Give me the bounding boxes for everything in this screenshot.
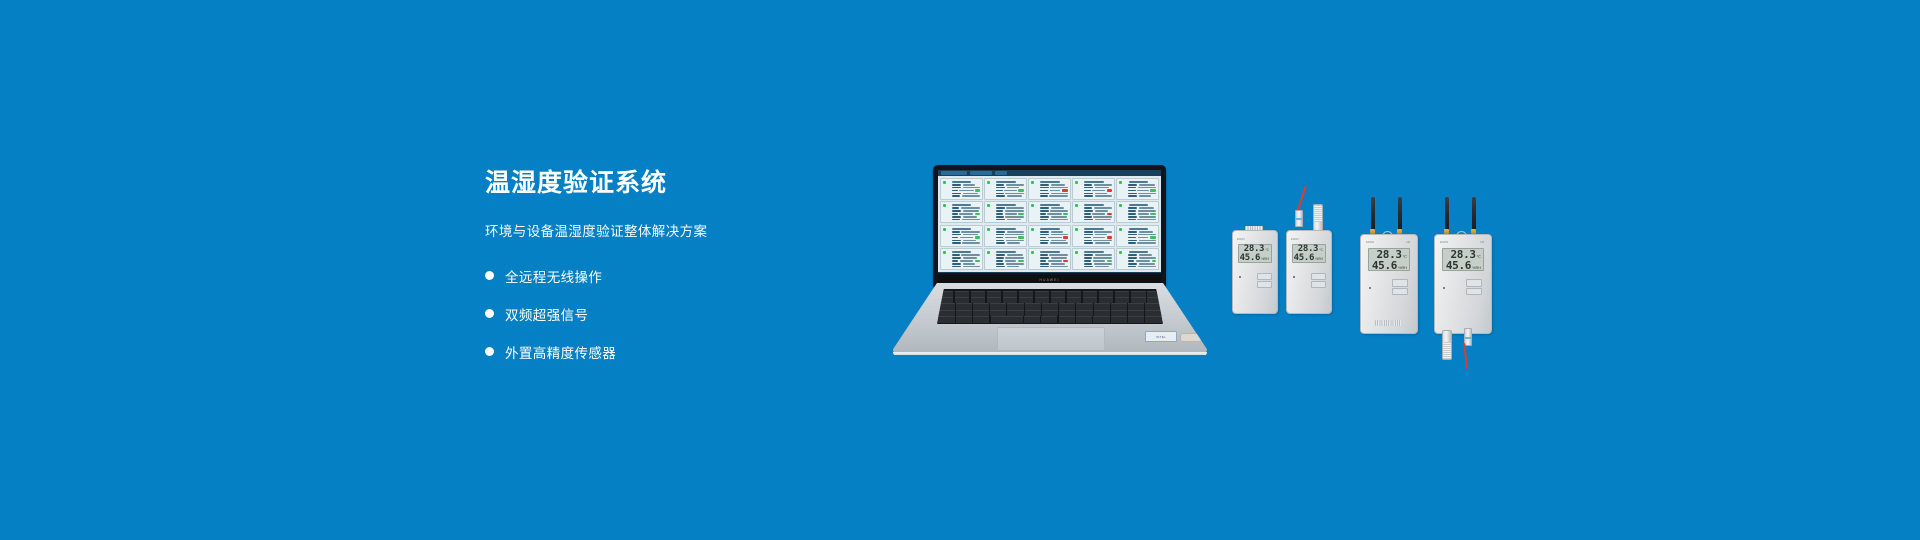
keyboard-key[interactable] bbox=[1076, 310, 1092, 316]
card-field-label bbox=[1084, 195, 1093, 197]
bullet-dot-icon bbox=[485, 271, 494, 280]
keyboard-key[interactable] bbox=[1145, 316, 1161, 322]
card-status-led-icon bbox=[1119, 228, 1122, 231]
device-button-down[interactable] bbox=[1311, 281, 1326, 288]
card-field-value bbox=[1006, 184, 1024, 186]
card-title bbox=[952, 228, 971, 230]
laptop-lid: HUAWEI bbox=[933, 165, 1166, 287]
sensor-card[interactable] bbox=[940, 248, 983, 270]
card-field-label bbox=[1128, 195, 1137, 197]
laptop-front-edge bbox=[893, 352, 1207, 357]
list-item: 外置高精度传感器 bbox=[485, 342, 845, 362]
keyboard-key[interactable] bbox=[1145, 310, 1161, 316]
card-field-row bbox=[996, 234, 1024, 236]
card-title bbox=[996, 204, 1015, 206]
sensor-cable bbox=[1297, 185, 1307, 210]
card-field-label bbox=[1128, 216, 1137, 218]
card-field-value bbox=[1139, 216, 1156, 218]
keyboard-key[interactable] bbox=[1025, 310, 1041, 316]
card-field-label bbox=[952, 237, 958, 239]
keyboard-key[interactable] bbox=[1067, 291, 1082, 297]
sensor-card[interactable] bbox=[1116, 225, 1159, 247]
card-status-led-icon bbox=[1031, 228, 1034, 231]
device-body: ENON 28.3 ℃ 45.6 %RH bbox=[1286, 230, 1332, 314]
card-field-row bbox=[1128, 193, 1156, 195]
card-field-label bbox=[996, 210, 1003, 212]
card-field-value bbox=[1093, 260, 1105, 262]
card-status-chip bbox=[1107, 189, 1112, 192]
card-field-row bbox=[1040, 187, 1068, 189]
card-field-label bbox=[996, 213, 1003, 215]
connector-ring bbox=[1296, 218, 1302, 220]
device-keypad bbox=[1392, 279, 1408, 295]
keyboard-key[interactable] bbox=[1042, 310, 1058, 316]
card-field-value bbox=[1005, 260, 1016, 262]
card-field-row bbox=[952, 234, 980, 236]
keyboard-key[interactable] bbox=[1111, 316, 1127, 322]
sensor-card[interactable] bbox=[1072, 178, 1115, 200]
card-field-label bbox=[1084, 254, 1093, 256]
card-title bbox=[1129, 181, 1148, 183]
card-field-row bbox=[1084, 213, 1112, 216]
keyboard-key[interactable] bbox=[973, 310, 989, 316]
sensor-card[interactable] bbox=[1116, 248, 1159, 270]
card-field-label bbox=[1040, 207, 1049, 209]
keyboard-key[interactable] bbox=[1067, 297, 1082, 303]
card-field-label bbox=[996, 193, 1004, 195]
card-field-label bbox=[952, 263, 961, 265]
keyboard-key[interactable] bbox=[956, 303, 972, 309]
laptop-screen bbox=[938, 170, 1161, 273]
card-field-value bbox=[1005, 257, 1023, 259]
card-field-label bbox=[952, 257, 961, 259]
card-field-label bbox=[1040, 237, 1046, 239]
card-field-label bbox=[996, 231, 1005, 233]
card-field-label bbox=[1128, 231, 1137, 233]
lcd-temperature-row: 28.3 ℃ bbox=[1450, 249, 1481, 260]
keyboard-key[interactable] bbox=[971, 297, 986, 303]
keyboard-key[interactable] bbox=[1145, 303, 1161, 309]
card-field-row bbox=[1084, 257, 1112, 259]
sensor-card[interactable] bbox=[1116, 178, 1159, 200]
keyboard-key[interactable] bbox=[956, 310, 972, 316]
card-field-label bbox=[1040, 184, 1049, 186]
product-banner: 温湿度验证系统 环境与设备温湿度验证整体解决方案 全远程无线操作 双频超强信号 … bbox=[0, 0, 1920, 540]
card-field-label bbox=[1084, 257, 1091, 259]
sensor-card[interactable] bbox=[1072, 201, 1115, 223]
keyboard-key[interactable] bbox=[1007, 310, 1023, 316]
keyboard-key[interactable] bbox=[1131, 297, 1146, 303]
card-field-label bbox=[1084, 266, 1093, 268]
keyboard-key[interactable] bbox=[1024, 316, 1040, 322]
card-field-value bbox=[1050, 190, 1061, 192]
card-status-chip bbox=[1018, 213, 1023, 216]
card-field-row bbox=[952, 216, 980, 218]
card-field-label bbox=[1128, 219, 1135, 221]
card-field-value bbox=[1139, 263, 1155, 265]
card-field-row bbox=[1128, 184, 1156, 186]
keyboard-key[interactable] bbox=[955, 291, 970, 297]
card-field-label bbox=[996, 216, 1004, 218]
sensor-card[interactable] bbox=[984, 248, 1027, 270]
card-field-label bbox=[952, 216, 961, 218]
device-body: ENON 28.3 ℃ 45.6 %RH bbox=[1232, 230, 1278, 314]
card-field-row bbox=[1084, 234, 1112, 236]
card-field-label bbox=[1128, 207, 1137, 209]
card-status-chip bbox=[975, 213, 980, 216]
brand-text-left: ENON bbox=[1440, 240, 1448, 244]
device-button-up[interactable] bbox=[1466, 279, 1482, 287]
keyboard-key[interactable] bbox=[973, 303, 989, 309]
card-title bbox=[952, 204, 971, 206]
keyboard-key[interactable] bbox=[1094, 303, 1110, 309]
sensor-card[interactable] bbox=[984, 225, 1027, 247]
card-status-led-icon bbox=[987, 204, 990, 207]
card-field-value bbox=[1004, 190, 1017, 192]
card-field-row bbox=[1084, 266, 1112, 268]
keyboard-key[interactable] bbox=[971, 291, 986, 297]
card-field-label bbox=[1128, 242, 1136, 244]
sticker-text: INTEL bbox=[1156, 335, 1166, 339]
keyboard-row bbox=[939, 303, 1162, 309]
keyboard-key[interactable] bbox=[1051, 291, 1066, 297]
card-field-row bbox=[1128, 257, 1156, 259]
keyboard-key[interactable] bbox=[1003, 297, 1018, 303]
keyboard-key[interactable] bbox=[1147, 291, 1162, 297]
card-field-label bbox=[1128, 263, 1137, 265]
card-field-label bbox=[952, 240, 961, 242]
card-field-value bbox=[962, 242, 979, 244]
laptop-secondary-sticker bbox=[1180, 333, 1202, 342]
card-field-row bbox=[1128, 213, 1156, 216]
card-field-label bbox=[1040, 254, 1047, 256]
card-field-label bbox=[996, 234, 1004, 236]
tab-alarm[interactable] bbox=[995, 171, 1007, 175]
banner-copy: 温湿度验证系统 环境与设备温湿度验证整体解决方案 全远程无线操作 双频超强信号 … bbox=[485, 170, 845, 380]
brand-text: ENON bbox=[1237, 238, 1245, 241]
device-button-down[interactable] bbox=[1257, 281, 1272, 288]
card-field-label bbox=[1128, 234, 1136, 236]
card-status-chip bbox=[1107, 260, 1112, 263]
keyboard-key[interactable] bbox=[1003, 291, 1018, 297]
keyboard-key[interactable] bbox=[938, 297, 953, 303]
card-field-value bbox=[1005, 216, 1023, 218]
keyboard-key[interactable] bbox=[1019, 297, 1034, 303]
keyboard-key[interactable] bbox=[1099, 291, 1114, 297]
brand-text-left: ENON bbox=[1366, 240, 1374, 244]
card-field-value bbox=[1093, 240, 1112, 242]
card-field-label bbox=[1128, 257, 1137, 259]
sensor-card[interactable] bbox=[940, 178, 983, 200]
keyboard-key[interactable] bbox=[1111, 310, 1127, 316]
card-field-label bbox=[1040, 193, 1049, 195]
card-field-row bbox=[1128, 219, 1156, 221]
sensor-card[interactable] bbox=[984, 201, 1027, 223]
card-field-label bbox=[996, 254, 1005, 256]
card-field-value bbox=[1138, 234, 1156, 236]
card-field-value bbox=[960, 237, 974, 239]
keyboard-key[interactable] bbox=[1059, 310, 1075, 316]
keyboard-key[interactable] bbox=[1025, 303, 1041, 309]
card-field-value bbox=[1051, 234, 1068, 236]
card-field-row bbox=[1040, 210, 1068, 212]
keyboard-key[interactable] bbox=[1147, 297, 1162, 303]
card-field-value bbox=[1051, 207, 1064, 209]
keyboard-key[interactable] bbox=[973, 316, 989, 322]
card-field-row bbox=[1084, 195, 1112, 197]
card-field-row bbox=[996, 263, 1024, 265]
keyboard-key[interactable] bbox=[1083, 291, 1098, 297]
keyboard-key[interactable] bbox=[1059, 316, 1075, 322]
card-field-label bbox=[1084, 240, 1092, 242]
keyboard-row bbox=[939, 291, 1162, 297]
sensor-card[interactable] bbox=[940, 201, 983, 223]
card-field-row bbox=[996, 242, 1024, 244]
card-field-row bbox=[1084, 210, 1112, 212]
card-field-value bbox=[959, 190, 973, 192]
keyboard-key[interactable] bbox=[1094, 310, 1110, 316]
card-status-chip bbox=[975, 189, 980, 192]
keyboard-key[interactable] bbox=[938, 316, 954, 322]
card-title bbox=[1040, 251, 1059, 253]
keyboard-key[interactable] bbox=[1035, 297, 1050, 303]
card-status-chip bbox=[1152, 260, 1156, 263]
keyboard-key[interactable] bbox=[956, 316, 972, 322]
sensor-card[interactable] bbox=[1028, 225, 1071, 247]
laptop-trackpad[interactable] bbox=[997, 327, 1105, 351]
keyboard-key[interactable] bbox=[955, 297, 970, 303]
card-field-label bbox=[996, 242, 1005, 244]
card-field-value bbox=[963, 193, 978, 195]
lcd-display: 28.3 ℃ 45.6 %RH bbox=[1238, 244, 1272, 263]
keyboard-key[interactable] bbox=[1115, 291, 1130, 297]
card-field-label bbox=[952, 190, 958, 192]
device-button-up[interactable] bbox=[1392, 279, 1408, 287]
lcd-humidity-unit: %RH bbox=[1398, 267, 1407, 271]
keyboard-key[interactable] bbox=[1128, 310, 1144, 316]
keyboard-key[interactable] bbox=[1111, 303, 1127, 309]
card-field-value bbox=[963, 240, 976, 242]
card-field-row bbox=[952, 193, 980, 195]
device-button-up[interactable] bbox=[1257, 273, 1272, 280]
card-field-value bbox=[1139, 257, 1156, 259]
card-field-value bbox=[1005, 237, 1017, 239]
keyboard-key[interactable] bbox=[1093, 316, 1109, 322]
keyboard-row bbox=[939, 316, 1162, 322]
card-field-value bbox=[1051, 231, 1063, 233]
card-field-label bbox=[952, 195, 960, 197]
keyboard-key[interactable] bbox=[938, 310, 954, 316]
sensor-card[interactable] bbox=[1028, 201, 1071, 223]
keyboard-key[interactable] bbox=[1076, 303, 1092, 309]
card-status-chip bbox=[1063, 213, 1067, 216]
sensor-card[interactable] bbox=[1116, 201, 1159, 223]
card-field-value bbox=[1139, 254, 1152, 256]
card-field-value bbox=[1092, 213, 1105, 215]
card-field-row bbox=[1040, 257, 1068, 259]
card-field-label bbox=[1084, 231, 1092, 233]
card-field-row bbox=[1084, 193, 1112, 195]
card-field-row bbox=[1084, 236, 1112, 239]
keyboard-key[interactable] bbox=[1115, 297, 1130, 303]
bullet-dot-icon bbox=[485, 309, 494, 318]
card-field-value bbox=[1050, 210, 1067, 212]
keyboard-key[interactable] bbox=[1007, 303, 1023, 309]
card-field-value bbox=[1138, 187, 1156, 189]
card-field-value bbox=[1051, 257, 1067, 259]
card-field-label bbox=[1084, 237, 1091, 239]
card-field-row bbox=[996, 219, 1024, 221]
keyboard-key[interactable] bbox=[1042, 303, 1058, 309]
card-field-value bbox=[1092, 190, 1105, 192]
keyboard-key[interactable] bbox=[987, 297, 1002, 303]
keyboard-key[interactable] bbox=[987, 291, 1002, 297]
card-field-row bbox=[1084, 254, 1112, 256]
card-title bbox=[996, 251, 1015, 253]
tab-realtime-monitor[interactable] bbox=[970, 171, 992, 175]
card-status-chip bbox=[1107, 213, 1112, 216]
probe-mesh bbox=[1314, 205, 1322, 222]
device-button-down[interactable] bbox=[1466, 288, 1482, 296]
keyboard-key[interactable] bbox=[1019, 291, 1034, 297]
tab-data-collection[interactable] bbox=[941, 171, 967, 175]
keyboard-key[interactable] bbox=[1035, 291, 1050, 297]
keyboard-key[interactable] bbox=[1041, 316, 1057, 322]
card-field-label bbox=[1128, 210, 1136, 212]
card-field-row bbox=[952, 213, 980, 216]
card-field-row bbox=[1084, 184, 1112, 186]
keyboard-key[interactable] bbox=[1076, 316, 1092, 322]
status-led-icon bbox=[1293, 276, 1295, 278]
keyboard-key[interactable] bbox=[991, 316, 1023, 322]
keyboard-key[interactable] bbox=[938, 303, 954, 309]
card-field-value bbox=[961, 207, 980, 209]
keyboard-key[interactable] bbox=[990, 303, 1006, 309]
card-field-value bbox=[1007, 242, 1020, 244]
sensor-card[interactable] bbox=[1072, 225, 1115, 247]
lcd-humidity-unit: %RH bbox=[1472, 267, 1481, 271]
status-led-icon bbox=[1239, 276, 1241, 278]
card-field-row bbox=[1084, 231, 1112, 233]
sensor-card[interactable] bbox=[1072, 248, 1115, 270]
card-field-value bbox=[960, 260, 973, 262]
card-status-chip bbox=[1062, 189, 1068, 192]
feature-label: 外置高精度传感器 bbox=[505, 342, 616, 362]
card-field-label bbox=[1128, 254, 1137, 256]
card-field-label bbox=[1128, 187, 1136, 189]
sensor-probe bbox=[1442, 330, 1452, 360]
sensor-card[interactable] bbox=[984, 178, 1027, 200]
card-field-value bbox=[963, 210, 979, 212]
keyboard-key[interactable] bbox=[1131, 291, 1146, 297]
cable-connector bbox=[1295, 210, 1303, 227]
card-field-label bbox=[1084, 219, 1093, 221]
card-field-label bbox=[952, 184, 961, 186]
device-vent bbox=[1375, 320, 1403, 326]
card-field-value bbox=[1050, 242, 1068, 244]
card-status-led-icon bbox=[1075, 228, 1078, 231]
device-button-down[interactable] bbox=[1392, 288, 1408, 296]
card-field-row bbox=[952, 266, 980, 268]
card-field-label bbox=[1084, 193, 1093, 195]
banner-subtitle: 环境与设备温湿度验证整体解决方案 bbox=[485, 224, 845, 240]
card-field-row bbox=[1128, 266, 1156, 268]
card-field-value bbox=[963, 266, 980, 268]
card-field-label bbox=[952, 219, 960, 221]
lcd-display: 28.3 ℃ 45.6 %RH bbox=[1292, 244, 1326, 263]
card-field-row bbox=[996, 184, 1024, 186]
keyboard-key[interactable] bbox=[1059, 303, 1075, 309]
bullet-dot-icon bbox=[485, 347, 494, 356]
card-status-led-icon bbox=[987, 251, 990, 254]
device-brand: ENON H8 bbox=[1440, 240, 1484, 244]
card-status-chip bbox=[1150, 236, 1156, 239]
keyboard-key[interactable] bbox=[1099, 297, 1114, 303]
sensor-card[interactable] bbox=[940, 225, 983, 247]
keyboard-key[interactable] bbox=[938, 291, 953, 297]
card-field-label bbox=[952, 210, 961, 212]
lcd-temperature-value: 28.3 bbox=[1376, 249, 1401, 260]
card-field-row bbox=[1128, 216, 1156, 218]
sensor-card[interactable] bbox=[1028, 248, 1071, 270]
card-field-label bbox=[996, 187, 1005, 189]
keyboard-key[interactable] bbox=[1128, 316, 1144, 322]
card-field-row bbox=[1128, 242, 1156, 244]
card-field-value bbox=[962, 219, 980, 221]
card-title bbox=[1129, 251, 1148, 253]
device-button-up[interactable] bbox=[1311, 273, 1326, 280]
card-field-row bbox=[1040, 260, 1068, 263]
keyboard-key[interactable] bbox=[1083, 297, 1098, 303]
card-title bbox=[1084, 181, 1103, 183]
card-field-label bbox=[1128, 193, 1136, 195]
card-field-row bbox=[996, 187, 1024, 189]
status-led-icon bbox=[1369, 287, 1371, 289]
card-field-row bbox=[952, 210, 980, 212]
card-field-label bbox=[1040, 187, 1048, 189]
card-field-label bbox=[952, 266, 961, 268]
laptop-keyboard[interactable] bbox=[937, 289, 1163, 324]
card-field-value bbox=[963, 234, 978, 236]
card-field-label bbox=[1040, 190, 1048, 192]
card-status-chip bbox=[1063, 260, 1068, 263]
keyboard-key[interactable] bbox=[990, 310, 1006, 316]
card-status-led-icon bbox=[1075, 204, 1078, 207]
card-field-label bbox=[1040, 195, 1048, 197]
keyboard-key[interactable] bbox=[1051, 297, 1066, 303]
card-status-led-icon bbox=[1119, 251, 1122, 254]
card-field-label bbox=[996, 260, 1003, 262]
card-field-value bbox=[1138, 210, 1156, 212]
card-field-value bbox=[1095, 266, 1109, 268]
keyboard-key[interactable] bbox=[1128, 303, 1144, 309]
laptop-brand-label: HUAWEI bbox=[1039, 278, 1059, 282]
card-field-label bbox=[1128, 237, 1136, 239]
sensor-card[interactable] bbox=[1028, 178, 1071, 200]
card-field-value bbox=[1137, 219, 1156, 221]
app-footer-toolbar bbox=[938, 272, 1161, 273]
brand-text: ENON bbox=[1291, 238, 1299, 241]
card-field-row bbox=[1040, 216, 1068, 218]
sensor-card-grid bbox=[938, 176, 1161, 272]
card-field-label bbox=[1128, 184, 1137, 186]
card-field-value bbox=[1006, 240, 1024, 242]
antenna-left-icon bbox=[1371, 197, 1375, 231]
card-field-value bbox=[1048, 237, 1062, 239]
card-title bbox=[996, 228, 1015, 230]
card-field-label bbox=[1084, 216, 1091, 218]
card-field-value bbox=[1051, 263, 1065, 265]
